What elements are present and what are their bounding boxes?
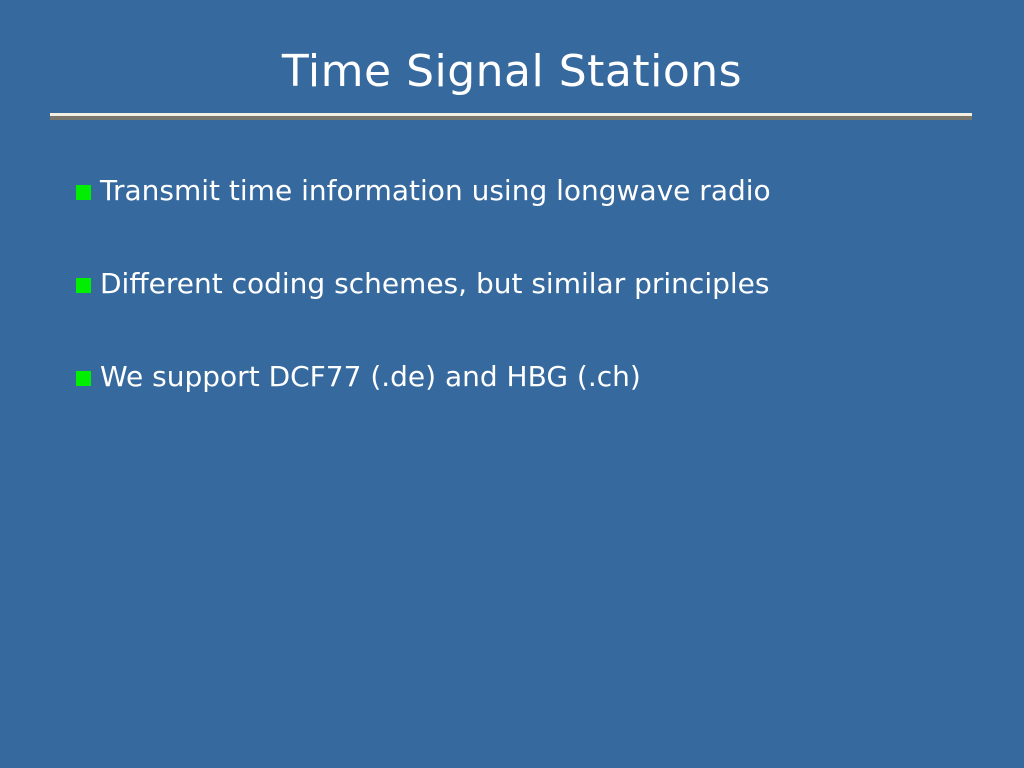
title-divider-shadow — [50, 116, 972, 120]
list-item: Different coding schemes, but similar pr… — [76, 265, 976, 358]
bullet-list: Transmit time information using longwave… — [76, 172, 976, 451]
presentation-slide: Time Signal Stations Transmit time infor… — [0, 0, 1024, 768]
square-bullet-icon — [76, 371, 91, 386]
list-item-label: Different coding schemes, but similar pr… — [100, 265, 976, 303]
list-item: Transmit time information using longwave… — [76, 172, 976, 265]
list-item-label: We support DCF77 (.de) and HBG (.ch) — [100, 358, 976, 396]
list-item-label: Transmit time information using longwave… — [100, 172, 976, 210]
page-title: Time Signal Stations — [0, 44, 1024, 100]
square-bullet-icon — [76, 185, 91, 200]
slide-title-block: Time Signal Stations — [0, 44, 1024, 100]
list-item: We support DCF77 (.de) and HBG (.ch) — [76, 358, 976, 451]
square-bullet-icon — [76, 278, 91, 293]
